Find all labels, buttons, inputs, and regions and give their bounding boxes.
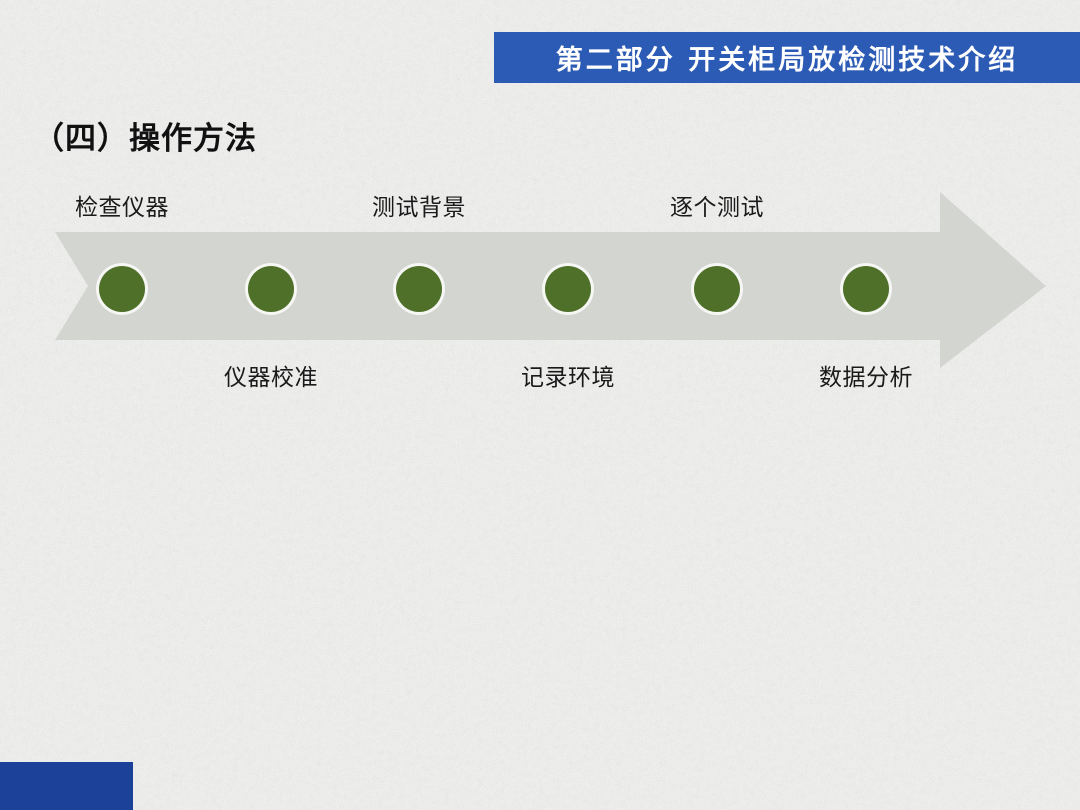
header-banner-title: 第二部分 开关柜局放检测技术介绍 xyxy=(556,38,1018,77)
process-step-label-5: 逐个测试 xyxy=(670,188,764,222)
process-step-node-4[interactable] xyxy=(545,266,591,312)
process-step-node-6[interactable] xyxy=(843,266,889,312)
process-step-node-1[interactable] xyxy=(99,266,145,312)
slide-canvas: 第二部分 开关柜局放检测技术介绍 （四）操作方法 检查仪器仪器校准测试背景记录环… xyxy=(0,0,1080,810)
process-step-label-2: 仪器校准 xyxy=(224,358,318,392)
header-banner: 第二部分 开关柜局放检测技术介绍 xyxy=(494,32,1080,83)
process-step-node-3[interactable] xyxy=(396,266,442,312)
process-step-label-3: 测试背景 xyxy=(372,188,466,222)
footer-accent-block xyxy=(0,762,133,810)
page-title: （四）操作方法 xyxy=(33,113,257,158)
process-step-label-6: 数据分析 xyxy=(819,358,913,392)
process-step-node-2[interactable] xyxy=(248,266,294,312)
process-step-label-4: 记录环境 xyxy=(521,358,615,392)
process-step-label-1: 检查仪器 xyxy=(75,188,169,222)
process-step-node-5[interactable] xyxy=(694,266,740,312)
